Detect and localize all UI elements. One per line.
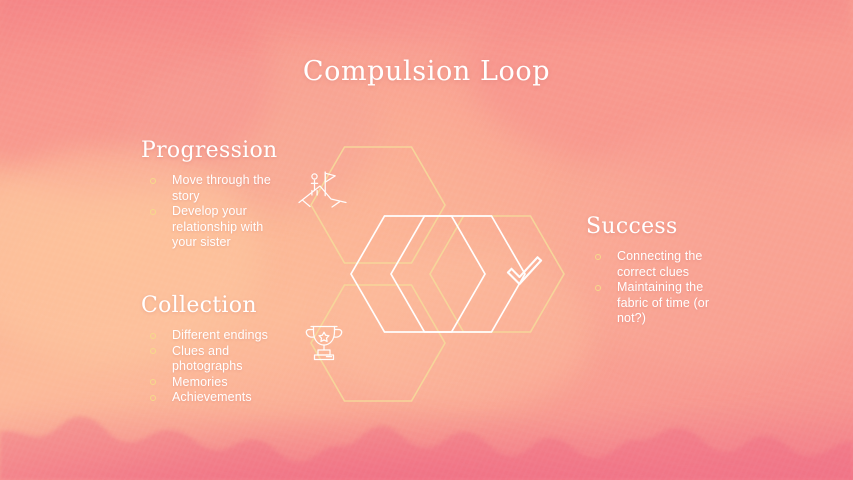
presentation-slide: Compulsion Loop: [0, 0, 853, 480]
hex-top-left: [311, 147, 445, 263]
list-item: Move through the story: [141, 173, 282, 204]
bullet-circle-icon: [150, 348, 156, 354]
list-item-label: Different endings: [172, 328, 292, 344]
bullet-list-success: Connecting the correct clues Maintaining…: [586, 249, 729, 327]
bullet-circle-icon: [150, 209, 156, 215]
bullet-circle-icon: [150, 379, 156, 385]
checkmark-icon: [508, 257, 541, 284]
list-item: Different endings: [141, 328, 292, 344]
list-item-label: Clues and photographs: [172, 344, 292, 375]
list-item-label: Move through the story: [172, 173, 282, 204]
list-item: Achievements: [141, 390, 292, 406]
bullet-circle-icon: [150, 178, 156, 184]
bullet-circle-icon: [595, 254, 601, 260]
section-success: Success Connecting the correct clues Mai…: [586, 214, 729, 327]
section-progression: Progression Move through the story Devel…: [141, 138, 282, 251]
section-heading-success: Success: [586, 214, 729, 239]
bullet-circle-icon: [150, 395, 156, 401]
list-item-label: Develop your relationship with your sist…: [172, 204, 282, 251]
flag-mountain-icon: [299, 172, 346, 207]
section-heading-progression: Progression: [141, 138, 282, 163]
bullet-circle-icon: [595, 285, 601, 291]
bullet-circle-icon: [150, 333, 156, 339]
list-item-label: Achievements: [172, 390, 292, 406]
list-item-label: Maintaining the fabric of time (or not?): [617, 280, 729, 327]
hex-center-lower: [391, 216, 525, 332]
list-item: Connecting the correct clues: [586, 249, 729, 280]
bullet-list-progression: Move through the story Develop your rela…: [141, 173, 282, 251]
list-item: Maintaining the fabric of time (or not?): [586, 280, 729, 327]
section-collection: Collection Different endings Clues and p…: [141, 293, 292, 406]
list-item-label: Memories: [172, 375, 292, 391]
list-item: Clues and photographs: [141, 344, 292, 375]
hex-center-upper: [351, 216, 485, 332]
list-item-label: Connecting the correct clues: [617, 249, 729, 280]
list-item: Develop your relationship with your sist…: [141, 204, 282, 251]
section-heading-collection: Collection: [141, 293, 292, 318]
hex-right: [430, 216, 564, 332]
bullet-list-collection: Different endings Clues and photographs …: [141, 328, 292, 406]
hex-bottom-left: [311, 285, 445, 401]
list-item: Memories: [141, 375, 292, 391]
